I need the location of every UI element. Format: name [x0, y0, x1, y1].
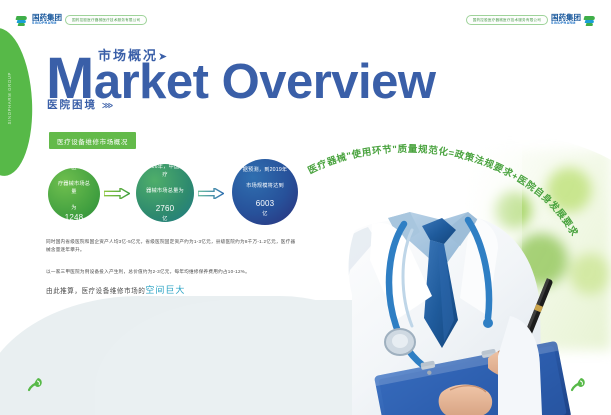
brand-subtitle-right: 国药控股医疗器械医疗技术服务有限公司 [466, 15, 548, 25]
stat-2010-unit: 亿 [52, 224, 96, 232]
brand-name-cn-left: 国药集团 [32, 14, 62, 22]
brand-name-cn-right: 国药集团 [551, 14, 581, 22]
brand-logo-left: 国药集团 SINOPHARM 国药控股医疗器械医疗技术服务有限公司 [16, 12, 147, 28]
brand-logo-right: 国药集团 SINOPHARM 国药控股医疗器械医疗技术服务有限公司 [466, 12, 597, 28]
body-paragraph-1: 同时国内省级医院和国企资产人均3亿-5亿元，省级医院固定资产约为1-3亿元，县级… [46, 238, 298, 254]
arrow-right-icon-1 [104, 188, 130, 199]
curved-headline-tspan: 医疗器械"使用环节"质量规范化=政策法规要求+医院自身发展要求 [306, 143, 580, 239]
sprout-icon-bottom-right [569, 375, 587, 393]
stat-2016-unit: 亿 [140, 215, 190, 223]
body-paragraph-2: 以一家三甲医院为例设备投入产生利，总价值约为2-3亿元，每年均维修保养费用约占1… [46, 268, 298, 276]
stat-circle-2019-text: 据预测，到2019年 市场规模将达到 6003亿 [235, 166, 296, 219]
stat-circle-2010: 2010年，中国医 疗器械市场总量 为1248亿 [48, 168, 100, 220]
stat-2019-unit: 亿 [239, 210, 292, 218]
conclusion-line: 由此推算，医疗设备维修市场的空间巨大 [46, 283, 185, 296]
left-leaf-label: SINOPHARM GROUP [7, 72, 12, 124]
brand-wordmark-right: 国药集团 SINOPHARM [551, 14, 581, 26]
brand-subtitle-left: 国药控股医疗器械医疗技术服务有限公司 [65, 15, 147, 25]
title-chinese-bottom-text: 医院困境 [47, 99, 97, 111]
chevrons-icon: ⋙ [102, 101, 112, 110]
curved-headline: 医疗器械"使用环节"质量规范化=政策法规要求+医院自身发展要求 [292, 140, 611, 270]
stat-2019-value: 6003 [239, 198, 292, 210]
curved-headline-text: 医疗器械"使用环节"质量规范化=政策法规要求+医院自身发展要求 [306, 143, 580, 239]
stat-2016-value: 2760 [140, 203, 190, 215]
stat-2010-line1: 2010年，中国医 [52, 156, 96, 172]
sinopharm-leaf-icon [16, 14, 29, 27]
stat-circle-2016-text: 2016年，中国医疗 器械市场总量为 2760亿 [136, 163, 194, 224]
brand-wordmark-left: 国药集团 SINOPHARM [32, 14, 62, 26]
stat-circle-2019: 据预测，到2019年 市场规模将达到 6003亿 [232, 159, 298, 225]
stats-flow: 2010年，中国医 疗器械市场总量 为1248亿 2016年，中国医疗 器械市场… [44, 158, 304, 226]
left-leaf-decoration [0, 26, 36, 177]
sprout-icon-bottom-left [26, 375, 44, 393]
section-label: 医疗设备维修市场概况 [49, 132, 136, 149]
stat-2010-line2: 疗器械市场总量 [52, 180, 96, 196]
sinopharm-leaf-icon-right [584, 14, 597, 27]
conclusion-prefix: 由此推算，医疗设备维修市场的 [46, 288, 145, 295]
stat-2019-line2: 市场规模将达到 [239, 182, 292, 190]
stat-circle-2010-text: 2010年，中国医 疗器械市场总量 为1248亿 [48, 156, 100, 233]
slide-canvas: SINOPHARM GROUP 国药集团 SINOPHARM 国药控股医疗器械医… [0, 0, 611, 415]
stat-2010-value: 1248 [52, 212, 96, 224]
page-title: 市场概况➤ Market Overview 医院困境 ⋙ [46, 45, 446, 115]
title-chinese-bottom: 医院困境 ⋙ [47, 97, 112, 112]
stat-2010-prefix: 为 [52, 204, 96, 212]
stat-2016-line1: 2016年，中国医疗 [140, 163, 190, 179]
stat-2016-line2: 器械市场总量为 [140, 187, 190, 195]
stat-circle-2016: 2016年，中国医疗 器械市场总量为 2760亿 [136, 164, 194, 222]
arrow-right-icon-2 [198, 188, 224, 199]
brand-name-en-left: SINOPHARM [32, 22, 62, 26]
title-english-rest: arket Overview [94, 55, 436, 109]
conclusion-highlight: 空间巨大 [145, 285, 185, 295]
stat-2019-line1: 据预测，到2019年 [239, 166, 292, 174]
brand-name-en-right: SINOPHARM [551, 22, 581, 26]
